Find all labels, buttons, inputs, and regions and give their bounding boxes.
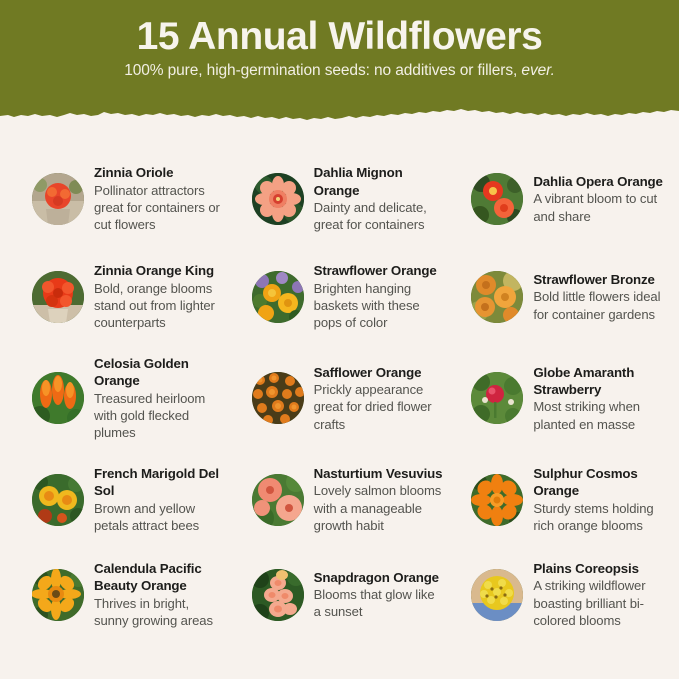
flower-name: Strawflower Bronze [533, 271, 663, 288]
flower-name: Zinnia Orange King [94, 262, 224, 279]
page-title: 15 Annual Wildflowers [0, 16, 679, 57]
flower-text: Dahlia Opera Orange A vibrant bloom to c… [533, 173, 663, 225]
flower-name: Plains Coreopsis [533, 560, 663, 577]
flower-card[interactable]: Safflower Orange Prickly appearance grea… [230, 346, 450, 451]
flower-text: Safflower Orange Prickly appearance grea… [314, 364, 444, 434]
flower-thumbnail [252, 569, 304, 621]
flower-description: Dainty and delicate, great for container… [314, 199, 444, 234]
flower-card[interactable]: Strawflower Orange Brighten hanging bask… [230, 248, 450, 346]
flower-text: Nasturtium Vesuvius Lovely salmon blooms… [314, 465, 444, 535]
flower-thumbnail [32, 173, 84, 225]
flower-thumbnail [32, 271, 84, 323]
flower-description: Treasured heirloom with gold flecked plu… [94, 390, 224, 442]
flower-card[interactable]: Globe Amaranth Strawberry Most striking … [449, 346, 669, 451]
flower-thumbnail [471, 372, 523, 424]
flower-name: Dahlia Mignon Orange [314, 164, 444, 199]
flower-grid: Zinnia Oriole Pollinator attractors grea… [0, 128, 679, 641]
flower-description: Pollinator attractors great for containe… [94, 182, 224, 234]
flower-description: Sturdy stems holding rich orange blooms [533, 500, 663, 535]
flower-card[interactable]: Zinnia Oriole Pollinator attractors grea… [10, 150, 230, 248]
wildflower-infographic: 15 Annual Wildflowers 100% pure, high-ge… [0, 0, 679, 679]
flower-description: A striking wildflower boasting brilliant… [533, 577, 663, 629]
flower-thumbnail [471, 271, 523, 323]
page-header: 15 Annual Wildflowers 100% pure, high-ge… [0, 0, 679, 128]
flower-text: Strawflower Bronze Bold little flowers i… [533, 271, 663, 323]
flower-name: Nasturtium Vesuvius [314, 465, 444, 482]
flower-description: Thrives in bright, sunny growing areas [94, 595, 224, 630]
flower-description: Brown and yellow petals attract bees [94, 500, 224, 535]
flower-description: Lovely salmon blooms with a manageable g… [314, 482, 444, 534]
flower-text: Sulphur Cosmos Orange Sturdy stems holdi… [533, 465, 663, 534]
header-text-block: 15 Annual Wildflowers 100% pure, high-ge… [0, 16, 679, 80]
subtitle-main: 100% pure, high-germination seeds: no ad… [124, 62, 517, 79]
flower-name: Strawflower Orange [314, 262, 444, 279]
flower-description: A vibrant bloom to cut and share [533, 190, 663, 225]
flower-name: Celosia Golden Orange [94, 355, 224, 390]
flower-card[interactable]: French Marigold Del Sol Brown and yellow… [10, 451, 230, 549]
flower-thumbnail [252, 372, 304, 424]
flower-thumbnail [252, 474, 304, 526]
flower-name: Snapdragon Orange [314, 569, 444, 586]
flower-card[interactable]: Zinnia Orange King Bold, orange blooms s… [10, 248, 230, 346]
flower-thumbnail [32, 569, 84, 621]
page-subtitle: 100% pure, high-germination seeds: no ad… [0, 62, 679, 80]
flower-description: Bold, orange blooms stand out from light… [94, 280, 224, 332]
flower-card[interactable]: Celosia Golden Orange Treasured heirloom… [10, 346, 230, 451]
flower-text: Globe Amaranth Strawberry Most striking … [533, 364, 663, 433]
flower-card[interactable]: Nasturtium Vesuvius Lovely salmon blooms… [230, 451, 450, 549]
torn-paper-edge-icon [0, 103, 679, 128]
flower-name: Dahlia Opera Orange [533, 173, 663, 190]
flower-text: Zinnia Oriole Pollinator attractors grea… [94, 164, 224, 234]
flower-description: Brighten hanging baskets with these pops… [314, 280, 444, 332]
flower-description: Blooms that glow like a sunset [314, 586, 444, 621]
subtitle-emphasis: ever. [521, 62, 554, 79]
flower-text: Calendula Pacific Beauty Orange Thrives … [94, 560, 224, 629]
flower-text: Plains Coreopsis A striking wildflower b… [533, 560, 663, 630]
flower-card[interactable]: Dahlia Opera Orange A vibrant bloom to c… [449, 150, 669, 248]
flower-card[interactable]: Strawflower Bronze Bold little flowers i… [449, 248, 669, 346]
flower-name: Sulphur Cosmos Orange [533, 465, 663, 500]
flower-thumbnail [252, 173, 304, 225]
flower-thumbnail [471, 474, 523, 526]
flower-thumbnail [252, 271, 304, 323]
flower-thumbnail [471, 569, 523, 621]
flower-card[interactable]: Sulphur Cosmos Orange Sturdy stems holdi… [449, 451, 669, 549]
flower-description: Bold little flowers ideal for container … [533, 288, 663, 323]
flower-text: French Marigold Del Sol Brown and yellow… [94, 465, 224, 534]
flower-card[interactable]: Plains Coreopsis A striking wildflower b… [449, 549, 669, 641]
flower-description: Prickly appearance great for dried flowe… [314, 381, 444, 433]
flower-text: Strawflower Orange Brighten hanging bask… [314, 262, 444, 332]
flower-text: Snapdragon Orange Blooms that glow like … [314, 569, 444, 621]
flower-card[interactable]: Calendula Pacific Beauty Orange Thrives … [10, 549, 230, 641]
flower-thumbnail [471, 173, 523, 225]
flower-thumbnail [32, 372, 84, 424]
flower-text: Celosia Golden Orange Treasured heirloom… [94, 355, 224, 442]
flower-name: Globe Amaranth Strawberry [533, 364, 663, 399]
flower-text: Zinnia Orange King Bold, orange blooms s… [94, 262, 224, 332]
flower-name: Safflower Orange [314, 364, 444, 381]
flower-description: Most striking when planted en masse [533, 398, 663, 433]
flower-card[interactable]: Dahlia Mignon Orange Dainty and delicate… [230, 150, 450, 248]
flower-name: French Marigold Del Sol [94, 465, 224, 500]
flower-text: Dahlia Mignon Orange Dainty and delicate… [314, 164, 444, 233]
flower-card[interactable]: Snapdragon Orange Blooms that glow like … [230, 549, 450, 641]
flower-name: Calendula Pacific Beauty Orange [94, 560, 224, 595]
flower-name: Zinnia Oriole [94, 164, 224, 181]
flower-thumbnail [32, 474, 84, 526]
